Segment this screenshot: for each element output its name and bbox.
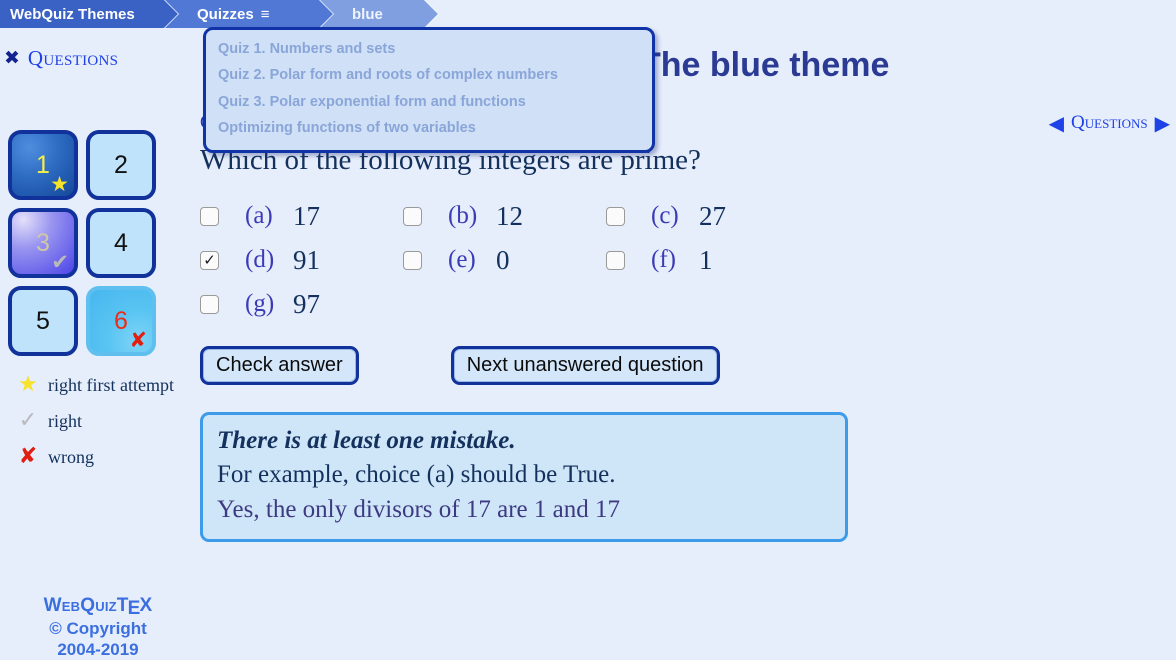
answer-value-f: 1 [699,245,713,276]
quiz-dropdown-menu[interactable]: Quiz 1. Numbers and sets Quiz 2. Polar f… [203,27,655,153]
question-button-6-number: 6 [114,307,128,336]
checkbox-d[interactable]: ✓ [200,251,219,270]
next-unanswered-question-button[interactable]: Next unanswered question [451,346,720,385]
feedback-line-1: There is at least one mistake. [217,424,831,459]
answer-option-e[interactable]: (e) 0 [403,245,606,276]
sidebar: ✖ Questions 1 ★ 2 3 ✔ 4 5 6 ✘ ★ right fi… [0,36,196,619]
question-button-3-number: 3 [36,229,50,258]
answer-option-b[interactable]: (b) 12 [403,201,606,232]
question-button-1[interactable]: 1 ★ [8,130,78,200]
breadcrumb-item-quizzes[interactable]: Quizzes ≡ [165,0,320,28]
answer-row-1: (a) 17 (b) 12 (c) 27 [200,201,920,232]
breadcrumb-label-blue: blue [352,6,383,23]
breadcrumb-item-blue[interactable]: blue [320,0,425,28]
question-button-4-number: 4 [114,229,128,258]
answer-row-3: (g) 97 [200,289,920,320]
breadcrumb-tip-3 [424,0,438,28]
feedback-line-2: For example, choice (a) should be True. [217,458,831,493]
answer-option-f[interactable]: (f) 1 [606,245,809,276]
breadcrumb-tip-1 [164,0,178,28]
page-title: The blue theme [640,46,889,85]
question-button-5-number: 5 [36,307,50,336]
answer-value-b: 12 [496,201,523,232]
question-navigation-label: Questions [1071,112,1148,134]
question-button-5[interactable]: 5 [8,286,78,356]
question-button-1-number: 1 [36,151,50,180]
checkbox-g[interactable] [200,295,219,314]
checkbox-a[interactable] [200,207,219,226]
main-content: Question 6 Which of the following intege… [200,112,1160,542]
legend-label-check: right [48,411,82,432]
check-answer-button[interactable]: Check answer [200,346,359,385]
brand-e: E [128,597,141,621]
question-button-3[interactable]: 3 ✔ [8,208,78,278]
prev-arrow-icon[interactable]: ◀ [1049,113,1064,133]
legend-row-cross: ✘ wrong [8,446,188,468]
breadcrumb-item-themes[interactable]: WebQuiz Themes [0,0,165,28]
answer-option-g[interactable]: (g) 97 [200,289,403,320]
legend-label-cross: wrong [48,447,94,468]
breadcrumb-label-quizzes: Quizzes [197,6,254,23]
footer-copyright: WebQuizTEX © Copyright 2004-2019 [0,594,196,660]
question-button-grid: 1 ★ 2 3 ✔ 4 5 6 ✘ [8,130,168,356]
action-buttons: Check answer Next unanswered question [200,346,1160,385]
breadcrumb-tip-2 [319,0,333,28]
question-navigation: ◀ Questions ▶ [1049,112,1170,134]
checkbox-e[interactable] [403,251,422,270]
answer-options: (a) 17 (b) 12 (c) 27 ✓ (d) 91 (e) [200,201,920,320]
legend-row-star: ★ right first attempt [8,374,188,396]
copyright-text: © Copyright [0,618,196,639]
question-button-2-number: 2 [114,151,128,180]
check-icon: ✓ [8,410,48,432]
answer-label-e: (e) [448,246,496,274]
dropdown-item-quiz-3[interactable]: Quiz 3. Polar exponential form and funct… [206,89,652,115]
dropdown-item-quiz-1[interactable]: Quiz 1. Numbers and sets [206,36,652,62]
breadcrumb-label-themes: WebQuiz Themes [10,6,135,23]
answer-label-d: (d) [245,246,293,274]
cross-icon: ✘ [8,446,48,468]
answer-value-a: 17 [293,201,320,232]
legend-row-check: ✓ right [8,410,188,432]
star-icon: ★ [8,374,48,396]
answer-label-c: (c) [651,202,699,230]
answer-value-e: 0 [496,245,510,276]
copyright-years: 2004-2019 [0,639,196,660]
legend: ★ right first attempt ✓ right ✘ wrong [8,374,188,482]
close-x-icon[interactable]: ✖ [4,49,20,68]
answer-label-a: (a) [245,202,293,230]
brand-x: X [139,595,152,616]
questions-toggle-button[interactable]: ✖ Questions [4,46,118,71]
answer-option-c[interactable]: (c) 27 [606,201,809,232]
answer-value-d: 91 [293,245,320,276]
legend-label-star: right first attempt [48,375,174,396]
breadcrumb: WebQuiz Themes Quizzes ≡ blue [0,0,1176,28]
question-button-6[interactable]: 6 ✘ [86,286,156,356]
answer-option-a[interactable]: (a) 17 [200,201,403,232]
brand-webquiz: WebQuiz [44,595,117,616]
answer-value-c: 27 [699,201,726,232]
dropdown-item-quiz-2[interactable]: Quiz 2. Polar form and roots of complex … [206,62,652,88]
answer-label-b: (b) [448,202,496,230]
answer-option-d[interactable]: ✓ (d) 91 [200,245,403,276]
next-arrow-icon[interactable]: ▶ [1155,113,1170,133]
question-button-2[interactable]: 2 [86,130,156,200]
checkbox-c[interactable] [606,207,625,226]
feedback-line-3: Yes, the only divisors of 17 are 1 and 1… [217,493,831,528]
question-button-4[interactable]: 4 [86,208,156,278]
checkbox-f[interactable] [606,251,625,270]
checkbox-b[interactable] [403,207,422,226]
brand-name: WebQuizTEX [0,594,196,618]
check-icon: ✔ [51,252,69,273]
answer-row-2: ✓ (d) 91 (e) 0 (f) 1 [200,245,920,276]
feedback-box: There is at least one mistake. For examp… [200,412,848,543]
cross-icon: ✘ [129,330,147,351]
answer-label-g: (g) [245,290,293,318]
star-icon: ★ [50,174,69,195]
answer-label-f: (f) [651,246,699,274]
hamburger-menu-icon[interactable]: ≡ [261,7,270,22]
questions-toggle-label: Questions [28,46,118,71]
answer-value-g: 97 [293,289,320,320]
dropdown-item-optimizing[interactable]: Optimizing functions of two variables [206,115,652,141]
